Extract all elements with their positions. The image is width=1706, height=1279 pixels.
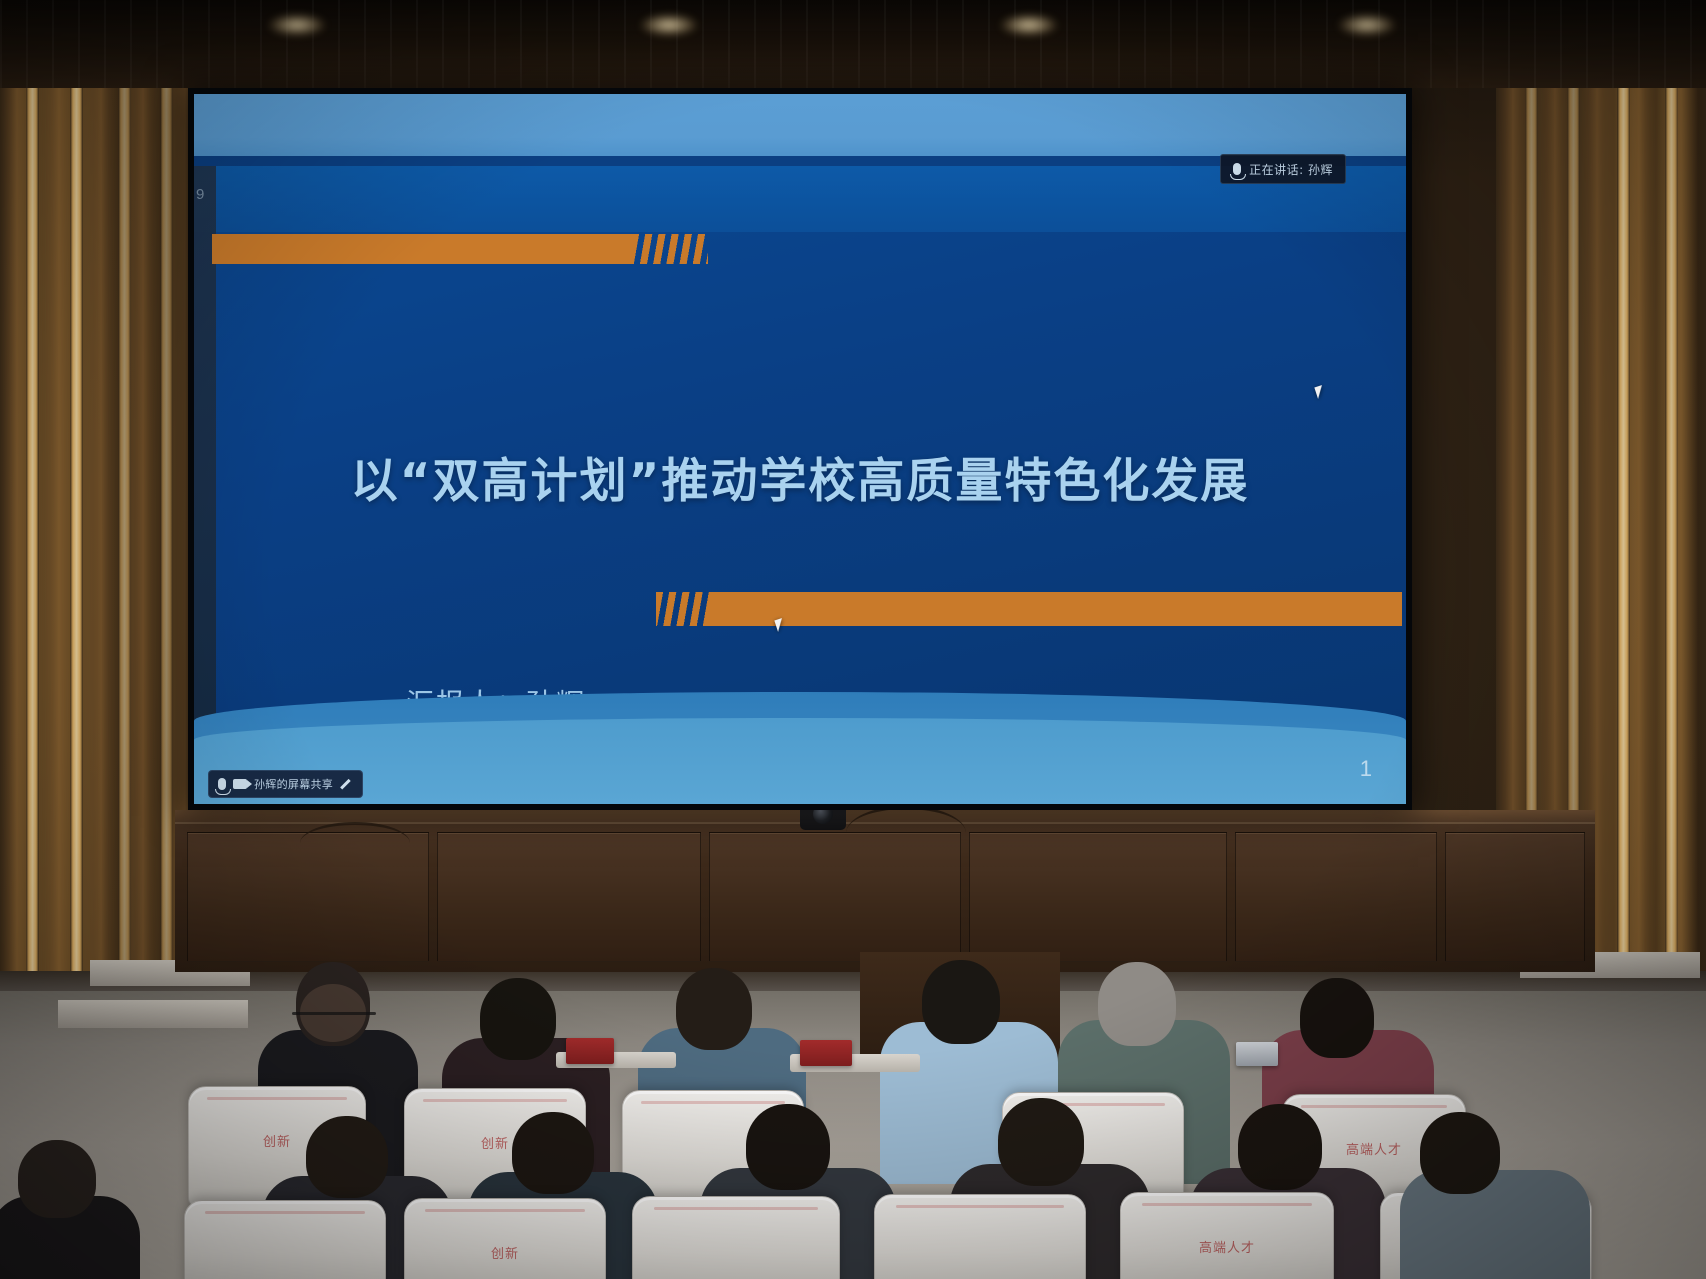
camera-icon[interactable] [233,779,247,789]
stage-step-2 [58,1000,248,1028]
presentation-slide: 9 以“双高计划”推动学校高质量特色化发展 汇报人：孙辉 1 [194,94,1406,804]
chair-logo: 创新 [405,1243,605,1262]
red-folder-2 [800,1040,852,1066]
led-display-frame: 9 以“双高计划”推动学校高质量特色化发展 汇报人：孙辉 1 正 [188,88,1412,810]
slide-title: 以“双高计划”推动学校高质量特色化发展 [194,442,1406,511]
ceiling-slats [0,0,1706,88]
stage-front-edge [0,971,1706,991]
led-display[interactable]: 9 以“双高计划”推动学校高质量特色化发展 汇报人：孙辉 1 正 [194,94,1406,804]
chair-f1 [184,1200,386,1279]
chair-logo: 高端人才 [1121,1237,1333,1256]
pencil-icon[interactable] [340,778,353,791]
speaking-badge-label: 正在讲话: 孙辉 [1249,161,1333,178]
screenshot-root: 9 以“双高计划”推动学校高质量特色化发展 汇报人：孙辉 1 正 [0,0,1706,1279]
stage-cabinet [175,822,1595,972]
slide-page-number: 1 [1360,756,1372,782]
slide-accent-stripes-bottom [656,592,718,626]
ceiling-light-3 [1000,14,1058,36]
cabinet-door-1 [187,832,429,962]
slide-accent-bar-bottom [710,592,1402,626]
chair-f4 [874,1194,1086,1279]
slide-accent-stripes-top [632,234,708,264]
device-on-table [1236,1042,1278,1066]
ceiling-light-2 [640,14,698,36]
red-folder-1 [566,1038,614,1064]
cabinet-door-3 [709,832,961,962]
ghost-panel-number: 9 [196,186,204,203]
screen-share-label: 孙辉的屏幕共享 [254,776,333,792]
chair-f5: 高端人才 [1120,1192,1334,1279]
slide-wave-front [194,718,1406,804]
slide-top-band [194,94,1406,156]
ceiling-light-4 [1338,14,1396,36]
microphone-icon[interactable] [218,778,226,790]
screen-share-toolbar[interactable]: 孙辉的屏幕共享 [208,770,363,798]
ceiling-light-1 [268,14,326,36]
microphone-icon [1233,163,1241,175]
slide-accent-bar-top [212,234,632,264]
chair-f3 [632,1196,840,1279]
cabinet-door-2 [437,832,701,962]
cabinet-door-5 [1235,832,1437,962]
cabinet-door-4 [969,832,1227,962]
speaking-badge[interactable]: 正在讲话: 孙辉 [1220,154,1346,184]
cabinet-door-6 [1445,832,1585,962]
chair-f2: 创新 [404,1198,606,1279]
